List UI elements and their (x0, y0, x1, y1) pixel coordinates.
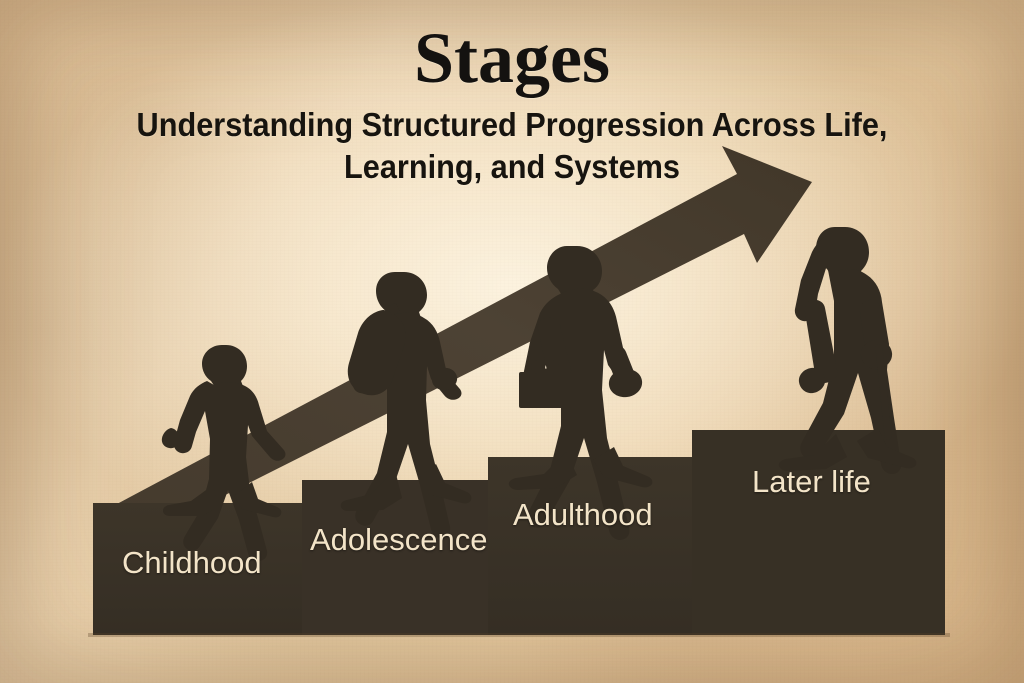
page-subtitle-line-2: Learning, and Systems (94, 146, 931, 188)
page-title: Stages (0, 22, 1024, 94)
title-block: Stages Understanding Structured Progress… (0, 22, 1024, 188)
step-label-adolescence: Adolescence (310, 522, 488, 558)
step-label-adulthood: Adulthood (513, 497, 653, 533)
poster-canvas: Stages Understanding Structured Progress… (0, 0, 1024, 683)
step-baseline-shadow (88, 633, 950, 637)
page-subtitle-line-1: Understanding Structured Progression Acr… (94, 104, 931, 146)
step-label-later-life: Later life (752, 464, 871, 500)
step-label-childhood: Childhood (122, 545, 262, 581)
page-subtitle: Understanding Structured Progression Acr… (94, 104, 931, 188)
